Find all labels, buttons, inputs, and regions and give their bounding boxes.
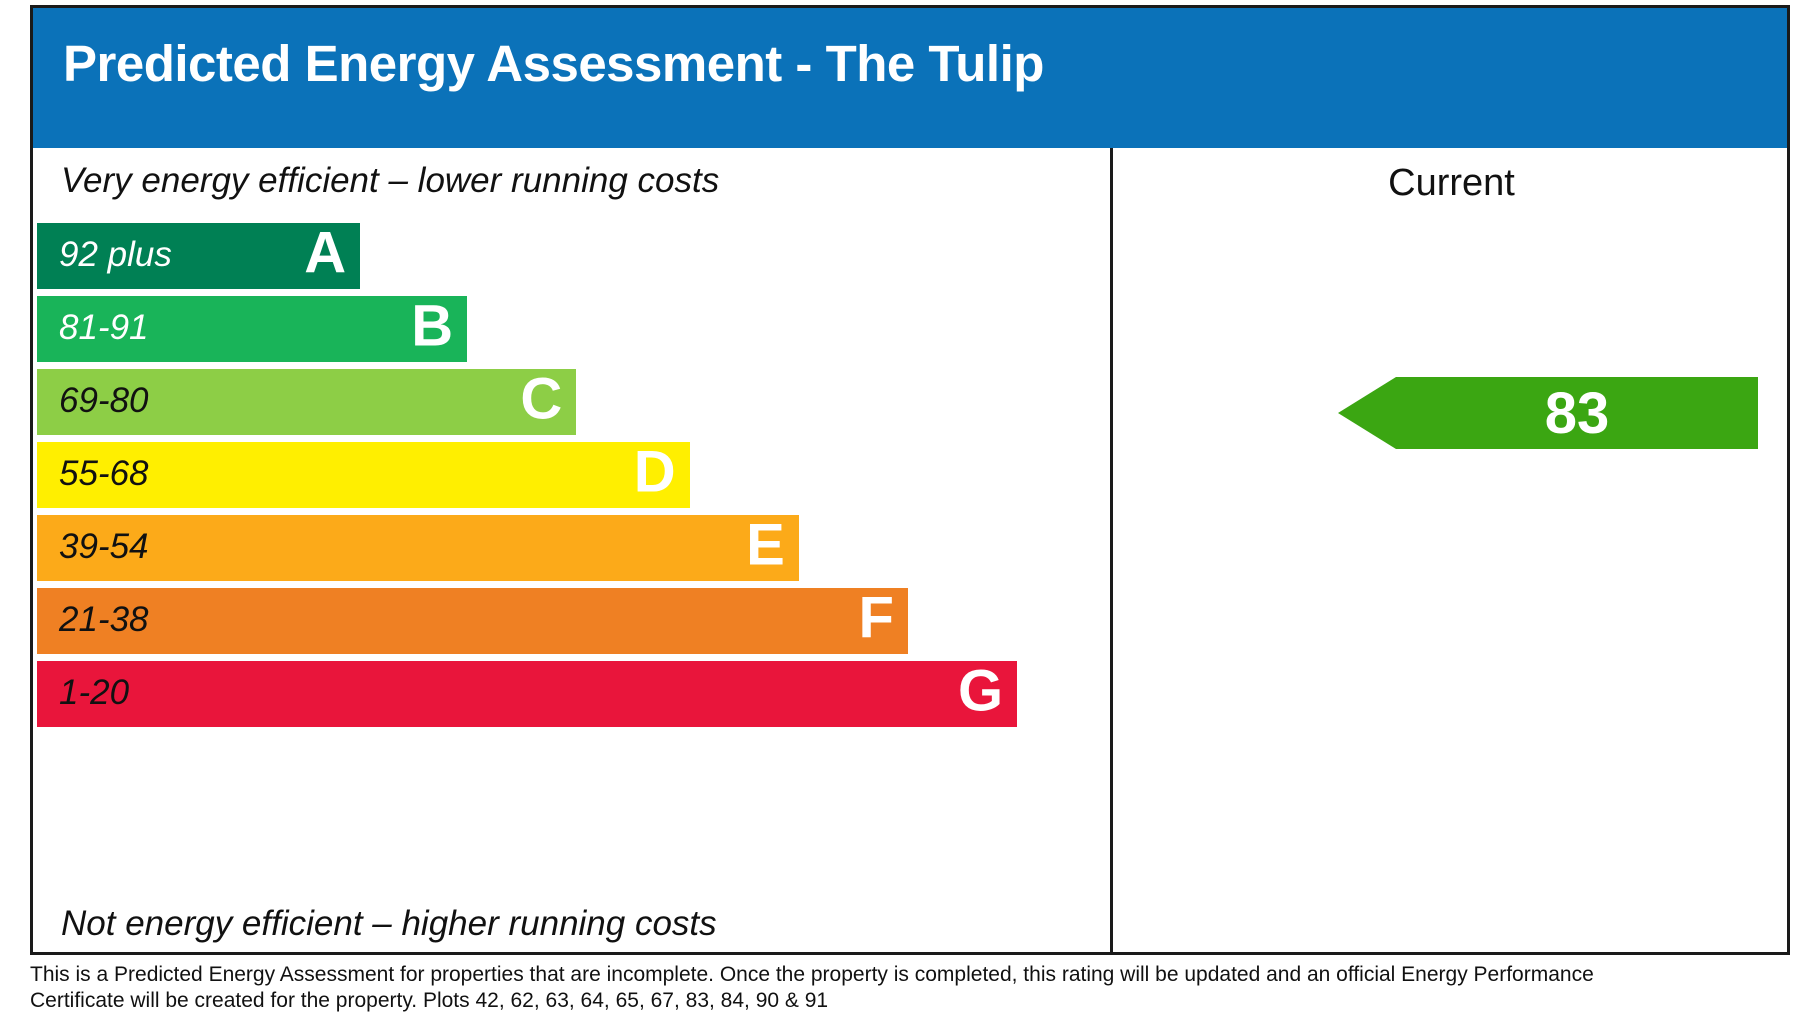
scale-bottom-note: Not energy efficient – higher running co… [61, 904, 717, 944]
band-range-d: 55-68 [59, 454, 149, 494]
band-range-a: 92 plus [59, 235, 172, 275]
current-rating-panel: Current 83 [1116, 148, 1787, 952]
band-range-e: 39-54 [59, 527, 149, 567]
epc-certificate-frame: Predicted Energy Assessment - The Tulip … [30, 5, 1790, 955]
header-bar: Predicted Energy Assessment - The Tulip [33, 8, 1787, 148]
band-letter-e: E [746, 517, 785, 575]
band-row-d: 55-68 D [37, 442, 690, 508]
band-range-c: 69-80 [59, 381, 149, 421]
band-row-b: 81-91 B [37, 296, 467, 362]
current-column-header: Current [1116, 162, 1787, 205]
current-rating-value: 83 [1338, 377, 1758, 449]
band-list: 92 plus A 81-91 B 69-80 C 55-68 D 39-54 [37, 223, 1107, 734]
band-row-f: 21-38 F [37, 588, 908, 654]
band-letter-b: B [411, 298, 453, 356]
band-row-c: 69-80 C [37, 369, 576, 435]
band-letter-d: D [634, 444, 676, 502]
chart-body: Very energy efficient – lower running co… [33, 148, 1787, 952]
rating-scale-panel: Very energy efficient – lower running co… [33, 148, 1113, 952]
band-row-e: 39-54 E [37, 515, 799, 581]
band-row-g: 1-20 G [37, 661, 1017, 727]
band-letter-a: A [304, 225, 346, 283]
footnote-line-2: Certificate will be created for the prop… [30, 988, 1790, 1013]
band-range-b: 81-91 [59, 308, 149, 348]
footnote-line-1: This is a Predicted Energy Assessment fo… [30, 962, 1790, 988]
band-range-f: 21-38 [59, 600, 149, 640]
current-rating-arrow: 83 [1338, 377, 1758, 449]
band-row-a: 92 plus A [37, 223, 360, 289]
band-letter-c: C [520, 371, 562, 429]
band-range-g: 1-20 [59, 673, 129, 713]
scale-top-note: Very energy efficient – lower running co… [61, 161, 719, 201]
footnote: This is a Predicted Energy Assessment fo… [30, 962, 1790, 1013]
band-letter-g: G [958, 663, 1003, 721]
page-title: Predicted Energy Assessment - The Tulip [63, 34, 1044, 93]
band-letter-f: F [859, 590, 894, 648]
